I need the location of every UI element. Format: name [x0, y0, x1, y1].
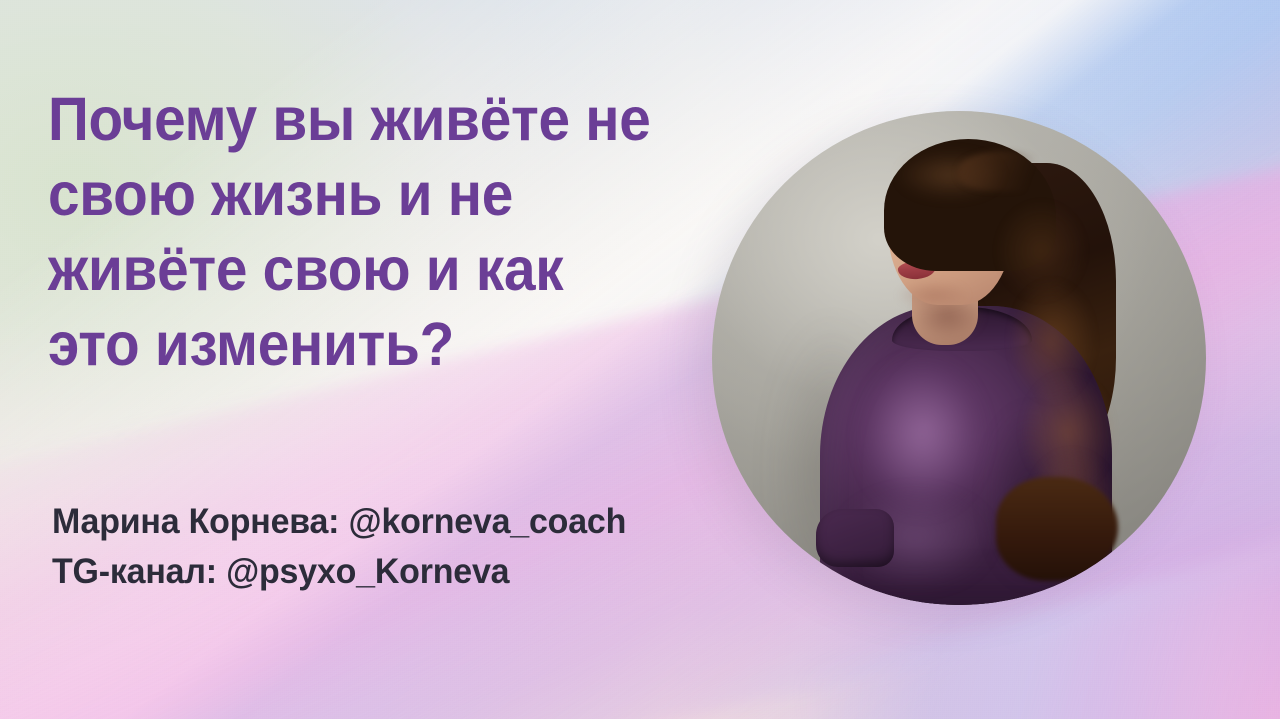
blouse-highlight-upper: [862, 361, 982, 511]
contact-telegram-handle: TG-канал: @psyxo_Korneva: [52, 547, 626, 597]
portrait-avatar: [712, 111, 1206, 605]
contact-instagram-handle: Марина Корнева: @korneva_coach: [52, 497, 626, 547]
headline-line-2: свою жизнь и не: [48, 157, 699, 232]
headline-line-3: живёте свою и как: [48, 232, 699, 307]
blouse-cuff-left: [816, 509, 894, 567]
contact-block: Марина Корнева: @korneva_coach TG-канал:…: [52, 497, 626, 597]
headline-line-1: Почему вы живёте не: [48, 82, 699, 157]
portrait-photo: [712, 111, 1206, 605]
hair-front-strand: [958, 151, 1048, 191]
promo-slide: Почему вы живёте не свою жизнь и не живё…: [0, 0, 1280, 719]
headline-line-4: это изменить?: [48, 307, 699, 382]
page-title: Почему вы живёте не свою жизнь и не живё…: [48, 82, 699, 382]
chin-shadow: [898, 281, 968, 309]
